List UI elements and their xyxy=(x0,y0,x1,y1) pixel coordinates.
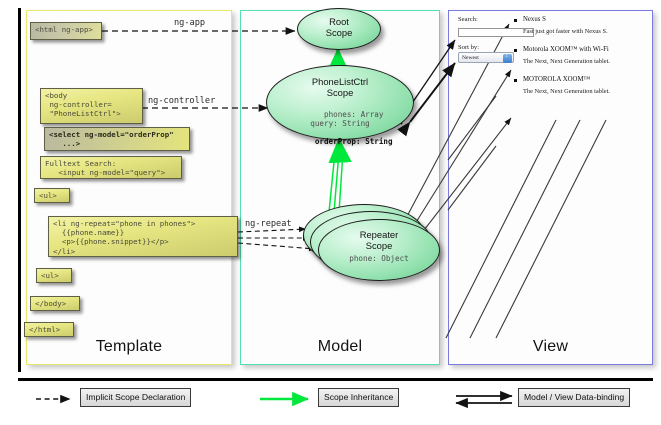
phonelistctrl-scope-props: phones: Array query: String orderProp: S… xyxy=(267,101,413,155)
sort-by-selected-value: Newest xyxy=(462,55,479,61)
chevron-updown-icon xyxy=(503,54,512,63)
angularjs-scope-diagram: Template Model View xyxy=(0,0,661,425)
legend: Implicit Scope Declaration Scope Inherit… xyxy=(18,388,653,416)
phone-name: Nexus S xyxy=(514,16,644,23)
ul-open-box: <ul> xyxy=(34,188,70,203)
li-repeat-box: <li ng-repeat="phone in phones"> {{phone… xyxy=(48,216,238,257)
phonelistctrl-scope-ellipse: PhoneListCtrl Scope phones: Array query:… xyxy=(266,65,414,140)
html-close-box: </html> xyxy=(24,322,74,337)
phone-snippet: Fast just got faster with Nexus S. xyxy=(514,28,644,35)
ng-repeat-edge-label: ng-repeat xyxy=(245,219,292,229)
body-controller-box: <body ng-controller= "PhoneListCtrl"> xyxy=(40,88,143,124)
repeater-scope-ellipse-front: Repeater Scope phone: Object xyxy=(318,219,440,281)
panel-model-label: Model xyxy=(241,338,439,356)
root-scope-title: Root Scope xyxy=(298,16,380,38)
phone-snippet: The Next, Next Generation tablet. xyxy=(514,58,644,65)
ng-controller-edge-label: ng-controller xyxy=(148,96,215,106)
view-browser-render: Search: Sort by: Newest Nexus S Fast jus… xyxy=(458,16,644,336)
panel-view-label: View xyxy=(449,338,652,356)
phonelistctrl-scope-title: PhoneListCtrl Scope xyxy=(267,76,413,98)
phone-name: MOTOROLA XOOM™ xyxy=(514,76,644,83)
panel-model: Model xyxy=(240,10,440,365)
sort-by-select[interactable]: Newest xyxy=(458,52,514,63)
legend-horizontal-rule xyxy=(18,378,653,381)
phone-name: Motorola XOOM™ with Wi-Fi xyxy=(514,46,644,53)
legend-model-view-data-binding: Model / View Data-binding xyxy=(518,388,630,407)
repeater-scope-title: Repeater Scope xyxy=(319,229,439,251)
panel-template-label: Template xyxy=(27,338,231,356)
list-item[interactable]: Motorola XOOM™ with Wi-Fi The Next, Next… xyxy=(514,46,644,65)
list-item[interactable]: MOTOROLA XOOM™ The Next, Next Generation… xyxy=(514,76,644,95)
repeater-scope-props: phone: Object xyxy=(319,254,439,263)
legend-scope-inheritance: Scope Inheritance xyxy=(318,388,399,407)
list-item[interactable]: Nexus S Fast just got faster with Nexus … xyxy=(514,16,644,35)
phone-snippet: The Next, Next Generation tablet. xyxy=(514,88,644,95)
phonelistctrl-props-plain: phones: Array query: String xyxy=(310,110,383,128)
body-close-box: </body> xyxy=(30,296,80,311)
ul-close-box: <ul> xyxy=(36,268,72,283)
root-scope-ellipse: Root Scope xyxy=(297,8,381,50)
phonelistctrl-props-bold: orderProp: String xyxy=(315,137,393,146)
legend-implicit-scope-declaration: Implicit Scope Declaration xyxy=(80,388,191,407)
ng-app-edge-label: ng-app xyxy=(174,18,205,28)
phone-list: Nexus S Fast just got faster with Nexus … xyxy=(514,16,644,106)
html-tag-box: <html ng-app> xyxy=(30,22,102,40)
select-box: <select ng-model="orderProp" ...> xyxy=(44,127,190,151)
left-vertical-rule xyxy=(18,8,21,372)
fulltext-search-box: Fulltext Search: <input ng-model="query"… xyxy=(40,156,182,179)
